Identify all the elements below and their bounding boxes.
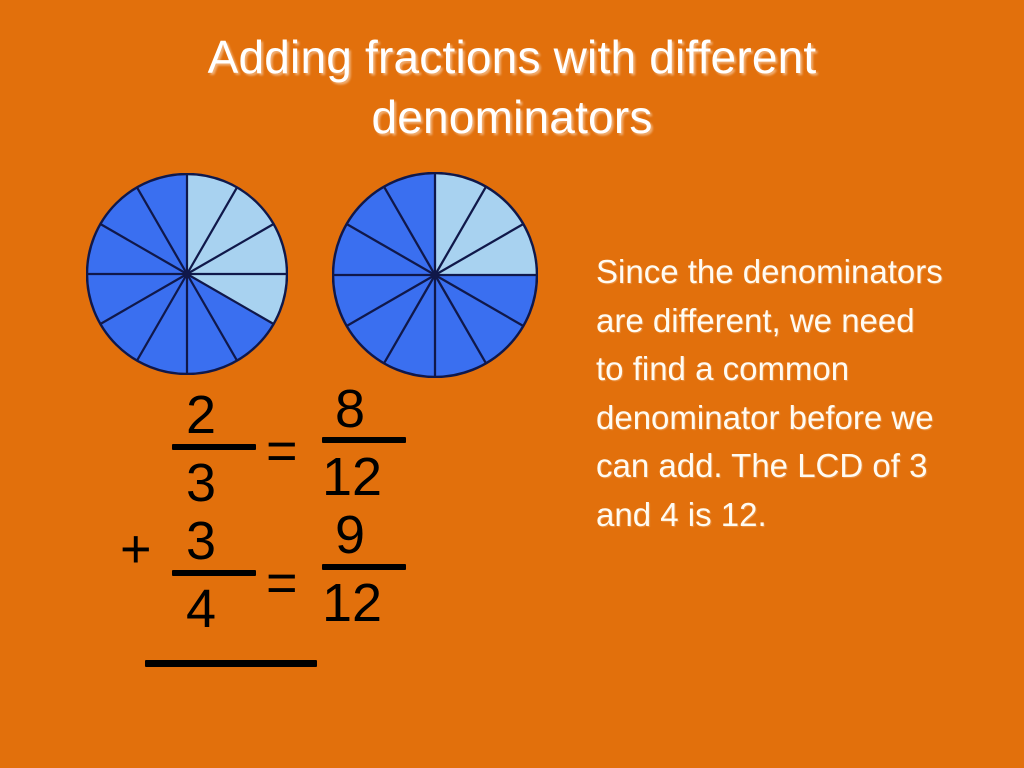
sum-rule-line — [145, 660, 317, 667]
fraction2-numerator: 8 — [335, 382, 365, 436]
fraction4-denominator: 12 — [322, 576, 382, 630]
pie1-center-dot — [184, 271, 190, 277]
equation-block: 2 3 = 8 12 + 3 4 = 9 12 — [100, 382, 460, 682]
fraction2-denominator: 12 — [322, 450, 382, 504]
equals-sign-row1: = — [266, 424, 298, 478]
fraction4-bar — [322, 564, 406, 570]
fraction1-denominator: 3 — [186, 456, 216, 510]
explanation-text: Since the denominators are different, we… — [596, 248, 948, 539]
fraction1-numerator: 2 — [186, 388, 216, 442]
equals-sign-row2: = — [266, 556, 298, 610]
plus-sign: + — [120, 522, 152, 576]
pie2-center-dot — [432, 272, 439, 279]
pie-chart-three-fourths — [332, 172, 538, 378]
page-title: Adding fractions with different denomina… — [92, 28, 932, 148]
pie-chart-three-fourths-svg — [332, 172, 538, 378]
slide-canvas: Adding fractions with different denomina… — [0, 0, 1024, 768]
fraction4-numerator: 9 — [335, 508, 365, 562]
fraction3-denominator: 4 — [186, 582, 216, 636]
fraction3-bar — [172, 570, 256, 576]
pie-chart-two-thirds-svg — [86, 173, 288, 375]
fraction3-numerator: 3 — [186, 514, 216, 568]
fraction1-bar — [172, 444, 256, 450]
pie-chart-two-thirds — [86, 173, 288, 375]
fraction2-bar — [322, 437, 406, 443]
